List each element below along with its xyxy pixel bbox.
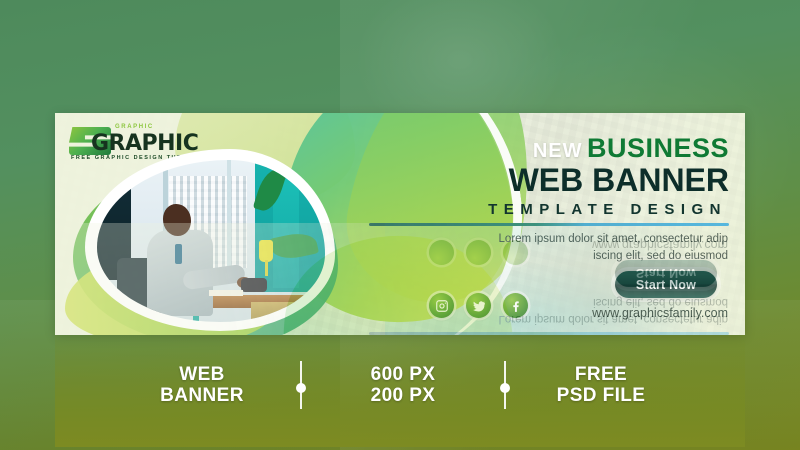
info-cell-1-line-2: BANNER bbox=[104, 385, 300, 406]
info-divider-dot-1 bbox=[296, 383, 306, 393]
info-bar: WEB BANNER 600 PX 200 PX FREE PSD FILE bbox=[55, 352, 745, 418]
facebook-button[interactable] bbox=[503, 293, 528, 318]
website-url[interactable]: www.graphicsfamily.com bbox=[592, 306, 728, 320]
window-mullion-2 bbox=[227, 160, 231, 276]
desk-lamp-stem bbox=[265, 260, 268, 276]
info-cell-3-line-2: PSD FILE bbox=[506, 385, 696, 406]
twitter-icon bbox=[472, 299, 486, 313]
info-divider-dot-2 bbox=[500, 383, 510, 393]
body-copy-line-1: Lorem ipsum dolor sit amet, consectetur … bbox=[499, 233, 728, 245]
headline-new: NEW bbox=[533, 140, 583, 162]
desk-phone bbox=[241, 278, 267, 292]
info-divider-1 bbox=[300, 361, 302, 409]
social-icons-group bbox=[429, 293, 528, 318]
desk-paper bbox=[209, 290, 243, 296]
person-head bbox=[163, 204, 191, 236]
facebook-icon bbox=[509, 299, 523, 313]
person-tie bbox=[175, 244, 182, 264]
instagram-icon bbox=[435, 299, 449, 313]
web-banner-artboard: GRAPHIC GRAPHIC FREE GRAPHIC DESIGN TUTO… bbox=[55, 113, 745, 335]
info-cell-3-line-1: FREE bbox=[506, 364, 696, 385]
headline-underline-rule bbox=[369, 223, 729, 226]
headline-line-1: NEW BUSINESS bbox=[369, 135, 729, 162]
body-copy-line-2: iscing elit, sed do eiusmod bbox=[593, 250, 728, 262]
headline-business: BUSINESS bbox=[587, 133, 729, 163]
info-cell-2-line-1: 600 PX bbox=[328, 364, 478, 385]
twitter-button[interactable] bbox=[466, 293, 491, 318]
desk-lamp bbox=[259, 240, 273, 262]
info-divider-2 bbox=[504, 361, 506, 409]
start-now-button[interactable]: Start Now bbox=[615, 271, 717, 298]
hero-photo-blob bbox=[93, 143, 348, 335]
headline-line-2: WEB BANNER bbox=[369, 163, 729, 198]
desk-drawer bbox=[251, 302, 309, 322]
headline-block: NEW BUSINESS WEB BANNER TEMPLATE DESIGN bbox=[369, 135, 729, 226]
info-cell-1-line-1: WEB bbox=[104, 364, 300, 385]
info-cell-dimensions: 600 PX 200 PX bbox=[328, 364, 478, 407]
headline-line-3: TEMPLATE DESIGN bbox=[369, 201, 729, 218]
body-copy: Lorem ipsum dolor sit amet, consectetur … bbox=[468, 231, 728, 264]
info-cell-2-line-2: 200 PX bbox=[328, 385, 478, 406]
instagram-button[interactable] bbox=[429, 293, 454, 318]
info-cell-file-type: FREE PSD FILE bbox=[506, 364, 696, 407]
info-cell-size-type: WEB BANNER bbox=[104, 364, 300, 407]
logo-top-text: GRAPHIC bbox=[115, 124, 154, 130]
